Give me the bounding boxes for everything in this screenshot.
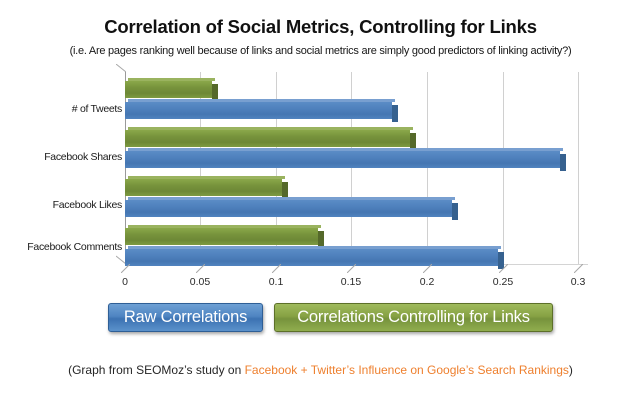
x-tick-label-1: 0.05 xyxy=(190,276,210,288)
bar-tweets-controlled xyxy=(125,81,212,98)
bar-side-face xyxy=(452,203,458,220)
chart-legend: Raw Correlations Correlations Controllin… xyxy=(0,301,641,339)
caption-prefix: (Graph from SEOMoz’s study on xyxy=(68,363,245,377)
tick-mark-0.2 xyxy=(423,264,432,273)
bar-side-face xyxy=(560,154,566,171)
category-label-facebook-comments: Facebook Comments xyxy=(4,241,122,253)
x-tick-label-2: 0.1 xyxy=(269,276,284,288)
caption-suffix: ) xyxy=(569,363,573,377)
chart-caption: (Graph from SEOMoz’s study on Facebook +… xyxy=(0,363,641,377)
bar-front-face xyxy=(125,81,212,98)
tick-mark-0.15 xyxy=(347,264,356,273)
x-tick-label-5: 0.25 xyxy=(493,276,513,288)
tick-mark-0.25 xyxy=(499,264,508,273)
legend-item-correlations-controlling-for-links: Correlations Controlling for Links xyxy=(274,303,553,332)
category-label-tweets: # of Tweets xyxy=(4,103,122,115)
x-tick-label-6: 0.3 xyxy=(571,276,586,288)
tick-mark-0 xyxy=(121,264,130,273)
bar-front-face xyxy=(125,249,498,266)
bar-front-face xyxy=(125,102,392,119)
bar-front-face xyxy=(125,200,452,217)
plot-area: # of Tweets Facebook Shares Facebook Lik… xyxy=(0,0,641,300)
tick-mark-0.1 xyxy=(272,264,281,273)
bar-facebook-shares-raw xyxy=(125,151,560,168)
category-label-facebook-shares: Facebook Shares xyxy=(4,151,122,163)
gridline-0.25 xyxy=(503,72,504,264)
tick-mark-0.05 xyxy=(196,264,205,273)
y-axis-labels: # of Tweets Facebook Shares Facebook Lik… xyxy=(0,0,122,300)
bar-front-face xyxy=(125,130,410,147)
x-tick-label-3: 0.15 xyxy=(341,276,361,288)
legend-item-raw-correlations: Raw Correlations xyxy=(108,303,263,332)
bar-facebook-comments-raw xyxy=(125,249,498,266)
tick-mark-0.3 xyxy=(574,264,583,273)
bar-front-face xyxy=(125,179,282,196)
bar-facebook-likes-controlled xyxy=(125,179,282,196)
gridline-0.3 xyxy=(578,72,579,264)
caption-source-link[interactable]: Facebook + Twitter’s Influence on Google… xyxy=(245,363,569,377)
category-label-facebook-likes: Facebook Likes xyxy=(4,199,122,211)
bar-front-face xyxy=(125,228,318,245)
bar-tweets-raw xyxy=(125,102,392,119)
bar-facebook-comments-controlled xyxy=(125,228,318,245)
bar-front-face xyxy=(125,151,560,168)
x-tick-label-4: 0.2 xyxy=(420,276,435,288)
x-tick-label-0: 0 xyxy=(122,276,128,288)
bar-facebook-shares-controlled xyxy=(125,130,410,147)
chart-container: Correlation of Social Metrics, Controlli… xyxy=(0,0,641,401)
bar-side-face xyxy=(392,105,398,122)
gridline-0.2 xyxy=(427,72,428,264)
bar-facebook-likes-raw xyxy=(125,200,452,217)
